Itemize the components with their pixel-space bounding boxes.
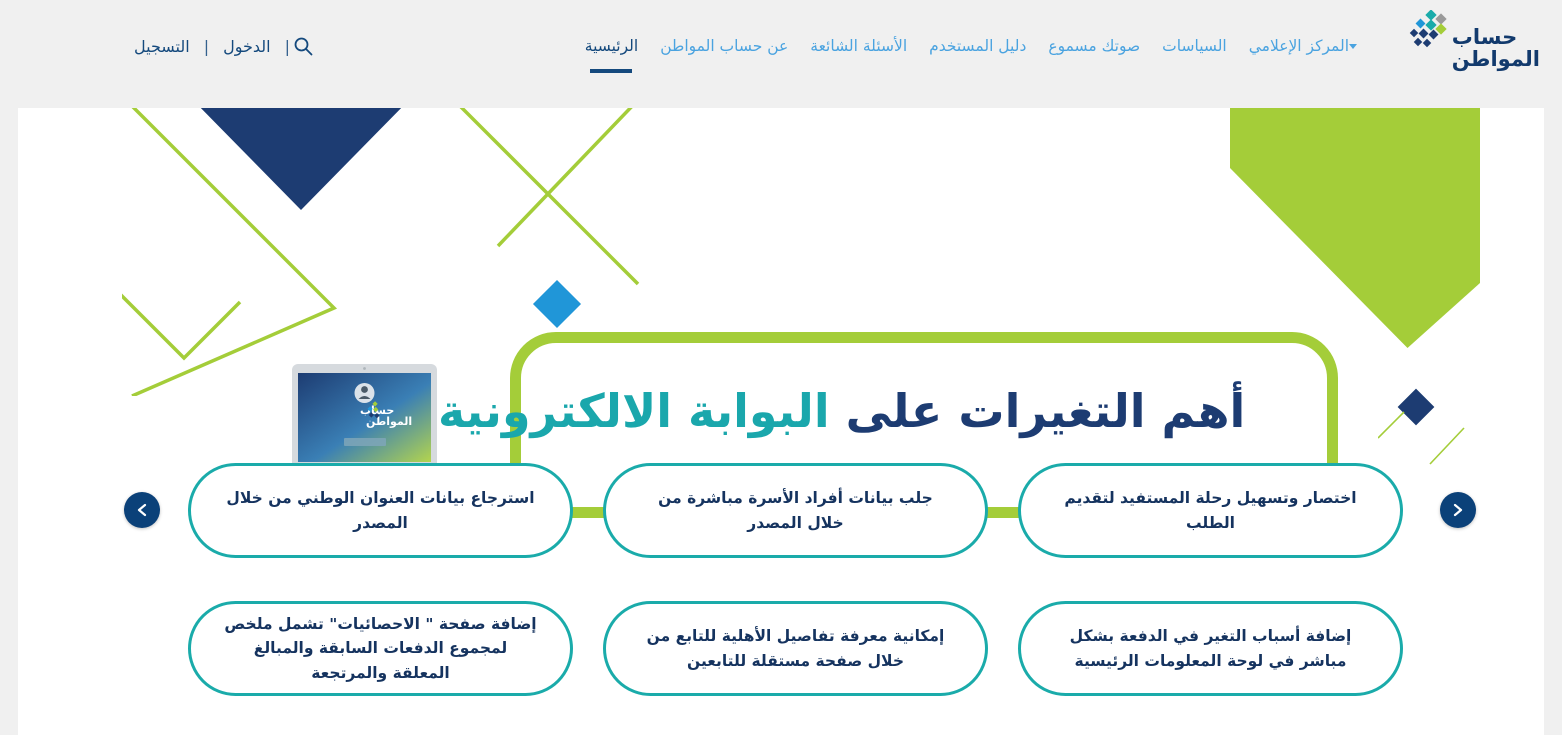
nav-label: المركز الإعلامي [1249, 37, 1349, 55]
card-row-2: إضافة أسباب التغير في الدفعة بشكل مباشر … [188, 601, 1403, 696]
nav-item-about[interactable]: عن حساب المواطن [649, 31, 799, 61]
logo-line-1: حساب [1452, 26, 1518, 48]
feature-card[interactable]: اختصار وتسهيل رحلة المستفيد لتقديم الطلب [1018, 463, 1403, 558]
feature-card[interactable]: إضافة صفحة " الاحصائيات" تشمل ملخص لمجمو… [188, 601, 573, 696]
search-icon[interactable] [290, 33, 316, 59]
site-logo[interactable]: حساب المواطن [1403, 8, 1540, 80]
nav-item-your-voice-heard[interactable]: صوتك مسموع [1037, 31, 1151, 61]
chevron-right-icon [1451, 502, 1465, 518]
lime-cross-lines-decoration [448, 108, 678, 316]
nav-item-policies[interactable]: السياسات [1151, 31, 1238, 61]
site-header: حساب المواطن المركز [0, 0, 1562, 108]
diamond-pattern-logo-icon [1403, 10, 1449, 56]
feature-card-text: جلب بيانات أفراد الأسرة مباشرة من خلال ا… [638, 486, 953, 534]
feature-card-text: إمكانية معرفة تفاصيل الأهلية للتابع من خ… [638, 624, 953, 672]
auth-area: التسجيل | الدخول | [0, 0, 360, 92]
page-title-part-2: البوابة الالكترونية [438, 384, 830, 438]
feature-card[interactable]: إضافة أسباب التغير في الدفعة بشكل مباشر … [1018, 601, 1403, 696]
nav-item-home[interactable]: الرئيسية [574, 31, 649, 61]
chevron-left-icon [135, 502, 149, 518]
lime-angled-shape-decoration [1230, 108, 1480, 348]
logo-line-2: المواطن [1452, 48, 1540, 70]
feature-card[interactable]: إمكانية معرفة تفاصيل الأهلية للتابع من خ… [603, 601, 988, 696]
feature-card[interactable]: جلب بيانات أفراد الأسرة مباشرة من خلال ا… [603, 463, 988, 558]
feature-card-text: اختصار وتسهيل رحلة المستفيد لتقديم الطلب [1053, 486, 1368, 534]
register-link[interactable]: التسجيل [120, 33, 204, 60]
hero-banner-panel: أهم التغيرات على البوابة الالكترونية [18, 108, 1544, 735]
login-link[interactable]: الدخول [209, 33, 285, 60]
nav-item-faq[interactable]: الأسئلة الشائعة [799, 31, 918, 61]
logo-wordmark: حساب المواطن [1452, 26, 1540, 70]
blue-diamond-decoration [533, 280, 581, 328]
main-navigation: المركز الإعلامي السياسات صوتك مسموع دليل… [574, 0, 1372, 92]
navy-diamond-decoration [1398, 389, 1435, 426]
carousel-next-button[interactable] [1440, 492, 1476, 528]
chevron-down-icon [1349, 44, 1357, 49]
page-title: أهم التغيرات على البوابة الالكترونية [438, 384, 1298, 438]
lime-thin-lines-decoration [1378, 408, 1468, 468]
lime-chevron-left-decoration [122, 108, 442, 396]
navy-triangle-decoration [191, 108, 411, 210]
feature-card[interactable]: استرجاع بيانات العنوان الوطني من خلال ال… [188, 463, 573, 558]
nav-item-user-guide[interactable]: دليل المستخدم [918, 31, 1037, 61]
feature-card-text: إضافة صفحة " الاحصائيات" تشمل ملخص لمجمو… [223, 612, 538, 684]
svg-text:المواطن: المواطن [366, 415, 412, 428]
auth-separator-1: | [204, 37, 209, 56]
feature-card-text: استرجاع بيانات العنوان الوطني من خلال ال… [223, 486, 538, 534]
feature-card-text: إضافة أسباب التغير في الدفعة بشكل مباشر … [1053, 624, 1368, 672]
nav-item-media-center[interactable]: المركز الإعلامي [1238, 31, 1372, 61]
card-row-1: اختصار وتسهيل رحلة المستفيد لتقديم الطلب… [188, 463, 1403, 558]
page-title-part-1: أهم التغيرات على [846, 384, 1246, 438]
carousel-prev-button[interactable] [124, 492, 160, 528]
auth-separator-2: | [285, 37, 290, 56]
